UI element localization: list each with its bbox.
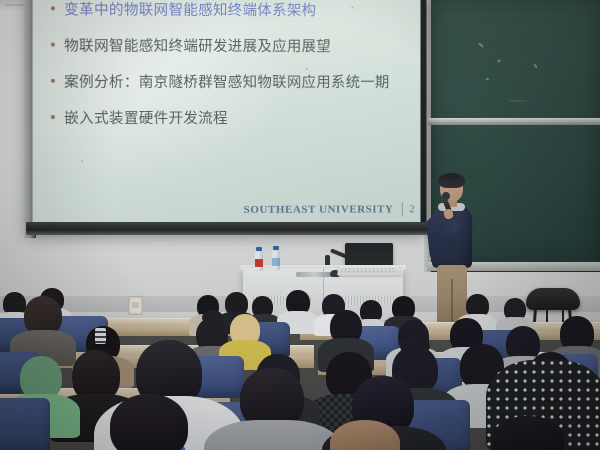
microphone-head-icon [442, 192, 450, 200]
hair-clip [95, 328, 106, 344]
blackboard-divider-rail [428, 118, 600, 125]
dust-speck [81, 160, 83, 162]
bullet-dot-icon [51, 115, 55, 119]
slide-bullet-item: 嵌入式装置硬件开发流程 [51, 110, 411, 129]
slide-bullet-item: 物联网智能感知终端研发进展及应用展望 [51, 38, 411, 58]
lectern-keyboard [337, 266, 401, 276]
slide-bullet-text: 物联网智能感知终端研发进展及应用展望 [64, 38, 331, 58]
bottle-label [255, 259, 263, 267]
chalk-mark [486, 78, 489, 80]
seat-back [0, 398, 50, 450]
projection-screen-bottom-bar [26, 222, 430, 235]
water-bottle-red [255, 247, 263, 271]
slide-bullet-list: 变革中的物联网智能感知终端体系架构 物联网智能感知终端研发进展及应用展望 案例分… [51, 1, 411, 146]
bottle-label [272, 258, 280, 266]
person-head [110, 394, 188, 450]
slide-page-number: 2 [409, 203, 414, 215]
hair-bun [202, 310, 223, 325]
slide-bullet-text: 案例分析：南京隧桥群智感知物联网应用系统一期 [64, 74, 389, 93]
hair-bun [400, 336, 430, 356]
water-bottle-blue [272, 246, 280, 270]
slide-footer: SOUTHEAST UNIVERSITY 2 [244, 202, 415, 217]
lecture-hall-photo: 变革中的物联网智能感知终端体系架构 物联网智能感知终端研发进展及应用展望 案例分… [0, 0, 600, 450]
slide-bullet-text: 嵌入式装置硬件开发流程 [64, 110, 228, 129]
bullet-dot-icon [51, 6, 55, 10]
lectern-cables [296, 272, 332, 277]
wall-outlet [128, 296, 143, 315]
footer-divider [401, 202, 402, 216]
bullet-dot-icon [51, 79, 55, 83]
university-brand-text: SOUTHEAST UNIVERSITY [244, 203, 394, 216]
presentation-slide: 变革中的物联网智能感知终端体系架构 物联网智能感知终端研发进展及应用展望 案例分… [33, 0, 421, 225]
speaker-trouser-seam [451, 279, 453, 323]
speaker-glasses-icon [442, 186, 461, 191]
slide-bullet-item: 案例分析：南京隧桥群智感知物联网应用系统一期 [51, 74, 411, 93]
slide-bullet-text: 变革中的物联网智能感知终端体系架构 [64, 1, 316, 21]
bullet-dot-icon [51, 43, 55, 47]
chalk-mark [509, 100, 527, 102]
slide-bullet-item: 变革中的物联网智能感知终端体系架构 [51, 1, 411, 21]
